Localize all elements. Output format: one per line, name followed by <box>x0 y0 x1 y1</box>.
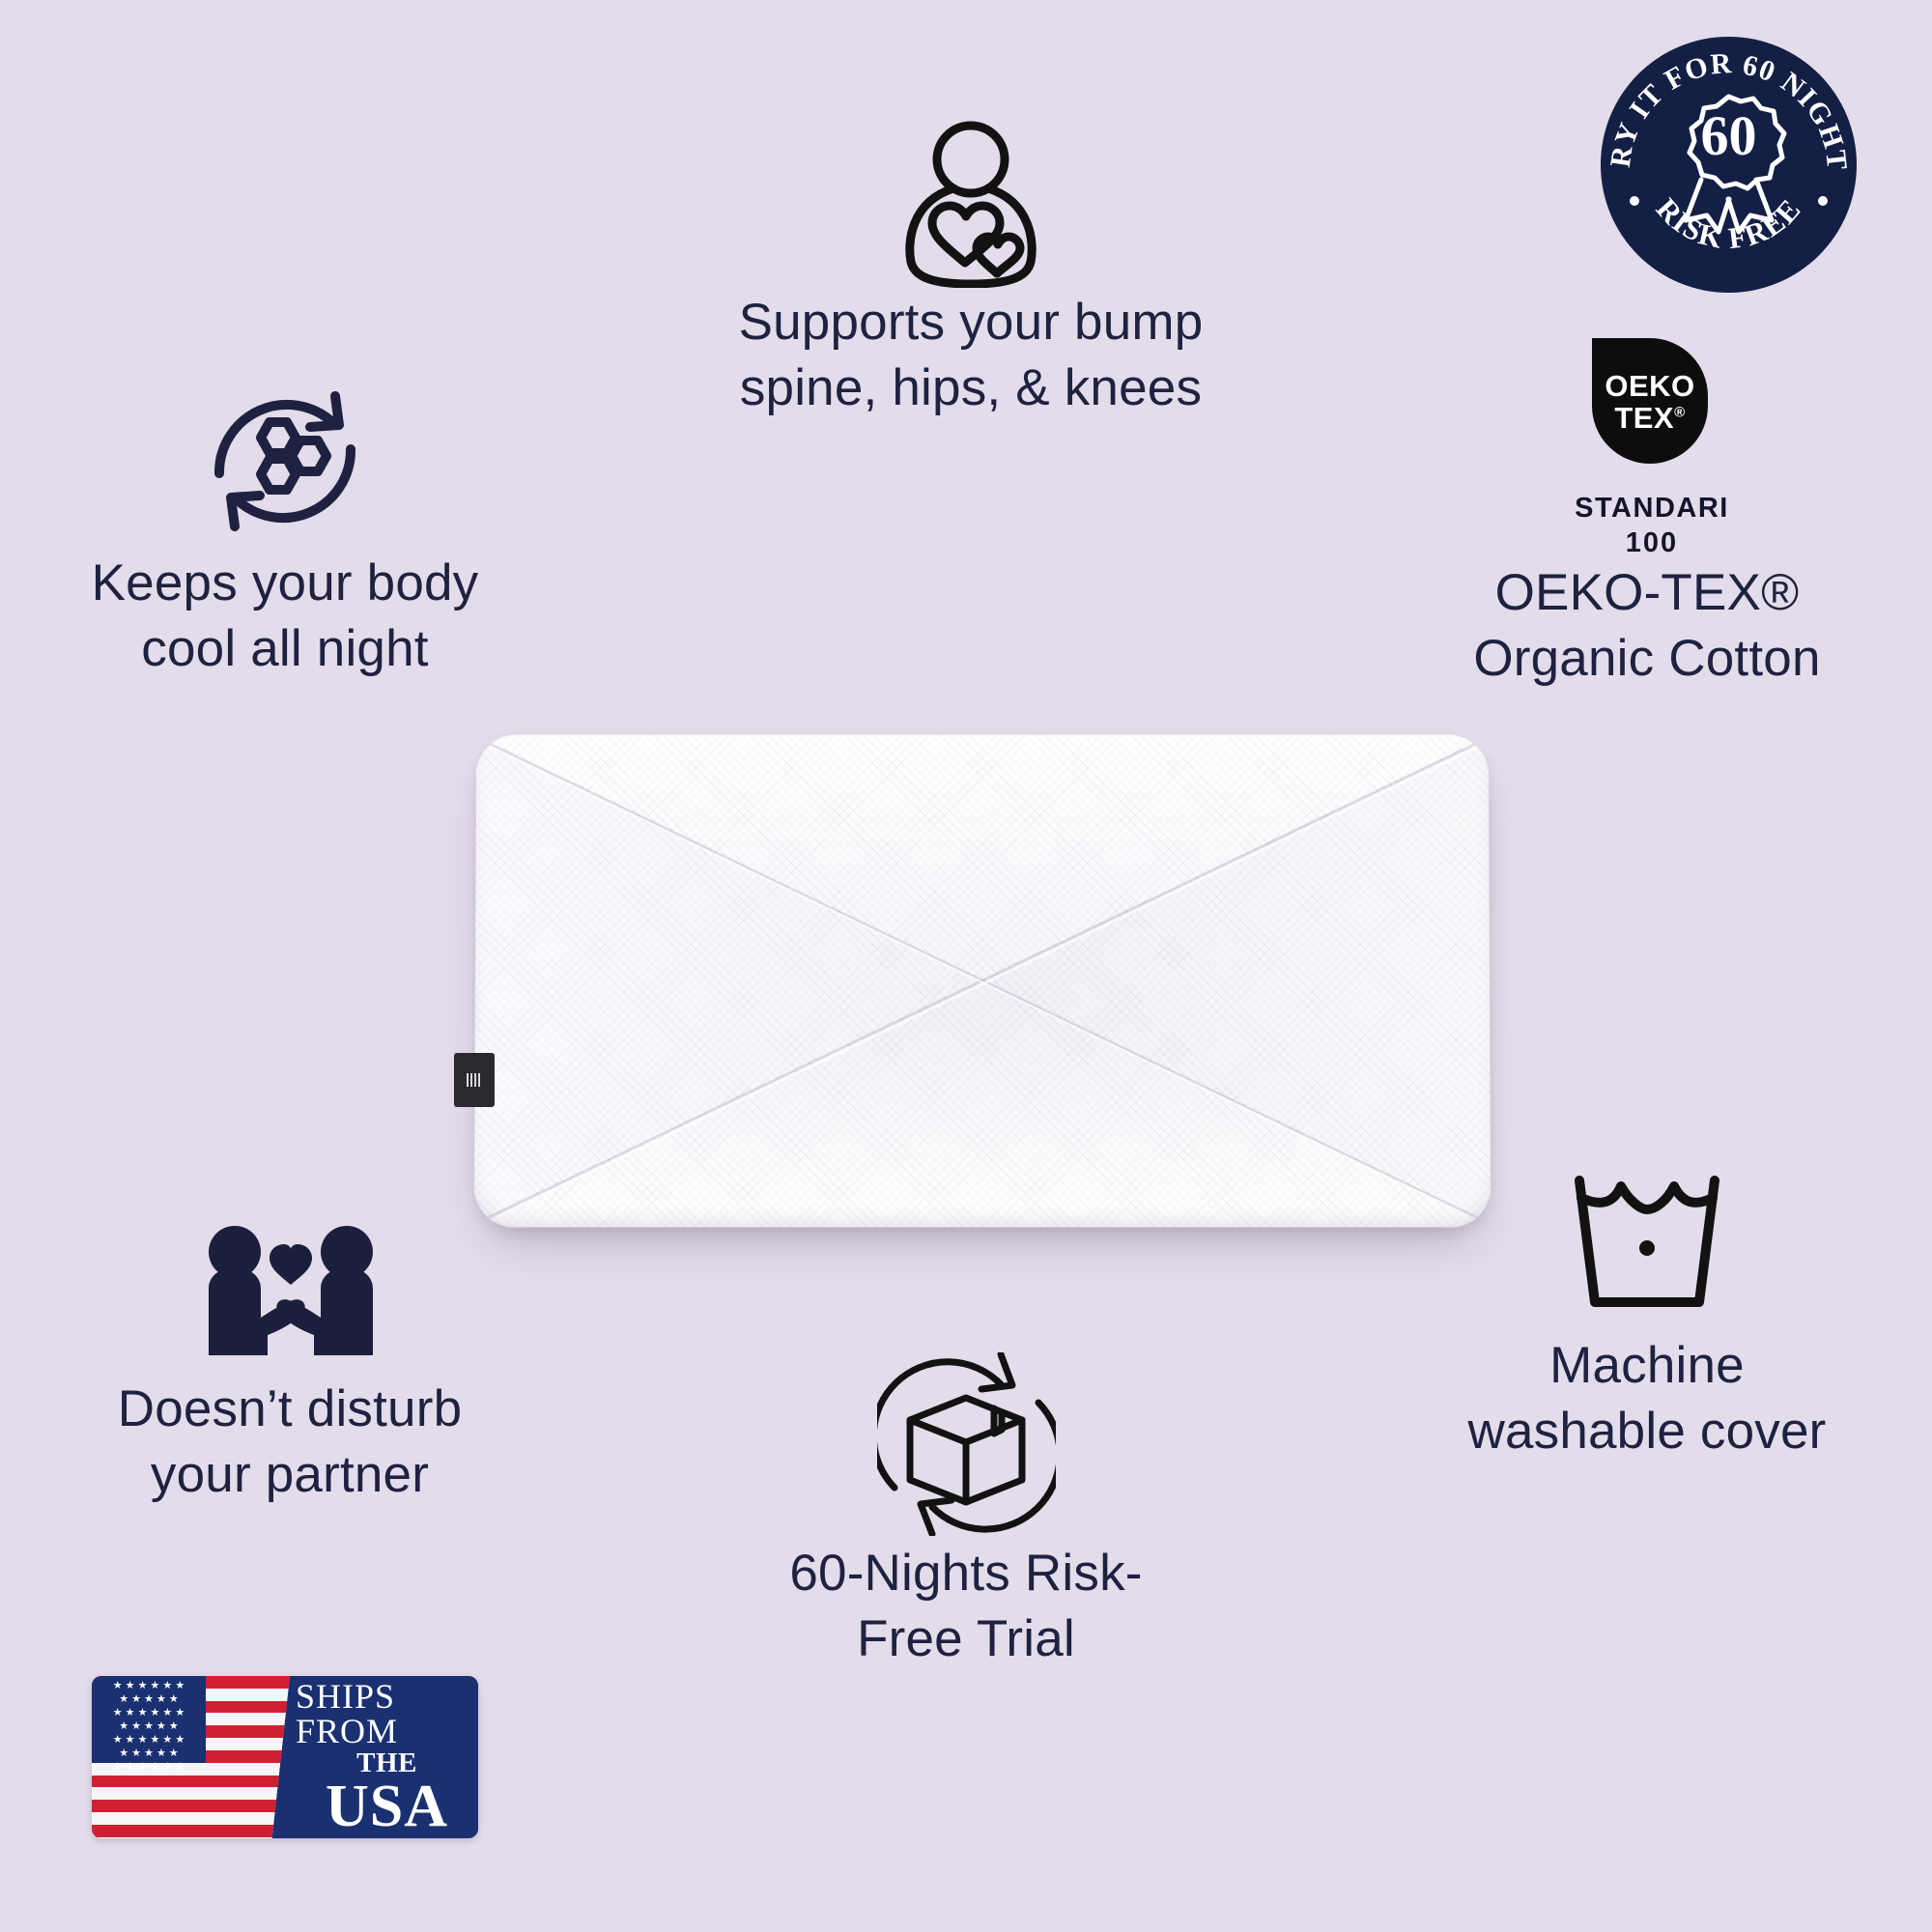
usa-badge-line1: SHIPS FROM <box>296 1679 478 1748</box>
star-row: ★ ★ ★ ★ ★ ★ <box>92 1676 206 1691</box>
united-states-flag: ★ ★ ★ ★ ★ ★ ★ ★ ★ ★ ★ ★ ★ ★ ★ ★ ★ ★ ★ ★ … <box>92 1676 290 1838</box>
machine-wash-tub-icon <box>1381 1145 1913 1333</box>
pillow-body <box>474 735 1491 1228</box>
feature-oeko-tex: OEKO-TEX® Organic Cotton <box>1381 560 1913 692</box>
pregnant-figure-hearts-icon <box>522 116 1420 290</box>
star-row: ★ ★ ★ ★ ★ <box>92 1691 206 1705</box>
usa-badge-line3: USA <box>326 1778 448 1835</box>
star-row: ★ ★ ★ ★ ★ ★ <box>92 1705 206 1719</box>
flag-canton-stars: ★ ★ ★ ★ ★ ★ ★ ★ ★ ★ ★ ★ ★ ★ ★ ★ ★ ★ ★ ★ … <box>92 1676 206 1763</box>
brand-care-tag <box>454 1053 495 1107</box>
oeko-tex-droplet-icon: OEKO TEX® <box>1592 338 1708 464</box>
feature-washable-label: Machine washable cover <box>1381 1333 1913 1464</box>
risk-free-seal-icon: TRY IT FOR 60 NIGHTS RISK FREE 60 <box>1601 37 1857 293</box>
feature-partner: Doesn’t disturb your partner <box>53 1207 526 1508</box>
feature-support: Supports your bump spine, hips, & knees <box>522 116 1420 421</box>
feature-support-label: Supports your bump spine, hips, & knees <box>522 290 1420 421</box>
infographic-canvas: TRY IT FOR 60 NIGHTS RISK FREE 60 OEKO T… <box>0 0 1932 1932</box>
oeko-standard-text: STANDARI 100 <box>1546 491 1758 561</box>
ships-from-usa-flag-badge: ★ ★ ★ ★ ★ ★ ★ ★ ★ ★ ★ ★ ★ ★ ★ ★ ★ ★ ★ ★ … <box>92 1676 478 1838</box>
feature-partner-label: Doesn’t disturb your partner <box>53 1377 526 1508</box>
star-row: ★ ★ ★ ★ ★ <box>92 1746 206 1759</box>
usa-badge-text: SHIPS FROM THE USA <box>290 1676 478 1838</box>
cooling-airflow-hexagon-icon <box>58 372 512 551</box>
star-row: ★ ★ ★ ★ ★ ★ <box>92 1759 206 1773</box>
feature-oeko-tex-label: OEKO-TEX® Organic Cotton <box>1381 560 1913 692</box>
registered-mark-icon: ® <box>1674 405 1686 421</box>
oeko-standard-number: 100 <box>1546 526 1758 560</box>
feature-washable: Machine washable cover <box>1381 1145 1913 1464</box>
feature-cooling-label: Keeps your body cool all night <box>58 551 512 682</box>
feature-cooling: Keeps your body cool all night <box>58 372 512 682</box>
feature-trial: 60-Nights Risk- Free Trial <box>618 1348 1314 1672</box>
star-row: ★ ★ ★ ★ ★ <box>92 1719 206 1732</box>
oeko-standard-word: STANDARI <box>1575 493 1729 524</box>
return-box-arrows-icon <box>618 1348 1314 1541</box>
star-row: ★ ★ ★ ★ ★ ★ <box>92 1732 206 1746</box>
two-people-holding-hands-heart-icon <box>53 1207 526 1377</box>
memory-foam-pillow-image <box>475 734 1490 1227</box>
badge-center-number: 60 <box>1701 104 1757 167</box>
oeko-line2: TEX® <box>1614 403 1685 435</box>
feature-trial-label: 60-Nights Risk- Free Trial <box>618 1541 1314 1672</box>
oeko-line1: OEKO <box>1605 371 1694 403</box>
